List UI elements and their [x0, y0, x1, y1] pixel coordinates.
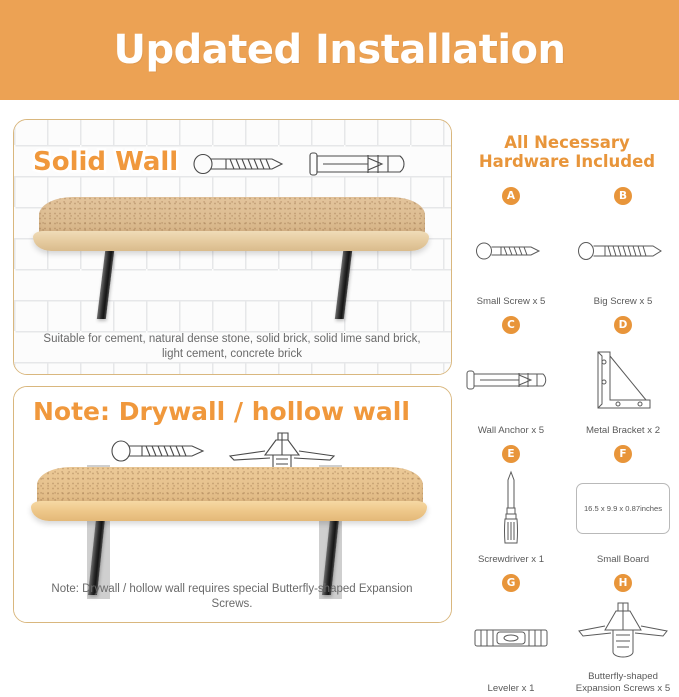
- screw-icon: [112, 441, 203, 461]
- label-small-board: Small Board: [597, 554, 649, 568]
- drywall-panel: Note: Drywall / hollow wall Note: Drywal…: [13, 386, 452, 623]
- butterfly-anchor-icon: [567, 592, 679, 671]
- label-big-screw: Big Screw x 5: [594, 296, 653, 310]
- badge-g: G: [502, 574, 520, 592]
- page-title: Updated Installation: [113, 27, 565, 73]
- badge-d: D: [614, 316, 632, 334]
- shelf-illustration-drywall: [29, 467, 429, 595]
- bracket-left-icon: [97, 251, 114, 319]
- hardware-title-line2: Hardware Included: [455, 152, 679, 171]
- badge-f: F: [614, 445, 632, 463]
- wall-anchor-icon: [455, 334, 567, 425]
- hardware-item-e: E Screwdriver x 1: [455, 445, 567, 568]
- label-leveler: Leveler x 1: [488, 683, 535, 697]
- shelf-edge: [33, 231, 429, 251]
- solid-wall-icon-row: [192, 144, 440, 189]
- shelf-edge: [31, 501, 427, 521]
- badge-b: B: [614, 187, 632, 205]
- badge-c: C: [502, 316, 520, 334]
- hardware-item-b: B Big Screw x 5: [567, 187, 679, 310]
- badge-h: H: [614, 574, 632, 592]
- solid-wall-caption: Suitable for cement, natural dense stone…: [33, 332, 431, 362]
- small-screw-icon: [455, 205, 567, 296]
- label-screwdriver: Screwdriver x 1: [478, 554, 544, 568]
- board-dimensions: 16.5 x 9.9 x 0.87inches: [584, 504, 662, 513]
- hardware-title-line1: All Necessary: [455, 133, 679, 152]
- hardware-item-c: C Wall Anchor x 5: [455, 316, 567, 439]
- solid-wall-heading: Solid Wall Solid Wall: [33, 147, 178, 177]
- hardware-item-f: F 16.5 x 9.9 x 0.87inches Small Board: [567, 445, 679, 568]
- label-metal-bracket: Metal Bracket x 2: [586, 425, 660, 439]
- hardware-grid: A Small Screw x 5 B Big Screw x 5: [455, 187, 679, 697]
- drywall-heading: Note: Drywall / hollow wall Note: Drywal…: [33, 397, 410, 426]
- wall-anchor-icon: [310, 153, 404, 175]
- hardware-list-section: All Necessary Hardware Included A Small …: [455, 110, 679, 634]
- shelf-illustration-solid: [31, 197, 431, 322]
- hardware-item-g: G Leveler x 1: [455, 574, 567, 697]
- big-screw-icon: [567, 205, 679, 296]
- hardware-item-d: D Metal Bracket x 2: [567, 316, 679, 439]
- label-wall-anchor: Wall Anchor x 5: [478, 425, 544, 439]
- header-banner: Updated Installation: [0, 0, 679, 100]
- label-butterfly-screws: Butterfly-shaped Expansion Screws x 5: [567, 671, 679, 697]
- screw-icon: [194, 155, 282, 174]
- badge-e: E: [502, 445, 520, 463]
- hardware-item-h: H Butterfly-shaped Expansion Screws x 5: [567, 574, 679, 697]
- hardware-item-a: A Small Screw x 5: [455, 187, 567, 310]
- board-outline: 16.5 x 9.9 x 0.87inches: [576, 483, 670, 534]
- leveler-icon: [455, 592, 567, 683]
- badge-a: A: [502, 187, 520, 205]
- screw-and-anchor-icons: [192, 144, 440, 184]
- drywall-caption: Note: Drywall / hollow wall requires spe…: [33, 582, 431, 612]
- metal-bracket-icon: [567, 334, 679, 425]
- hardware-title: All Necessary Hardware Included: [455, 133, 679, 171]
- bracket-right-icon: [335, 251, 352, 319]
- small-board-icon: 16.5 x 9.9 x 0.87inches: [567, 463, 679, 554]
- label-small-screw: Small Screw x 5: [477, 296, 546, 310]
- screwdriver-icon: [455, 463, 567, 554]
- solid-wall-panel: Solid Wall Solid Wall Suitable for cemen…: [13, 119, 452, 375]
